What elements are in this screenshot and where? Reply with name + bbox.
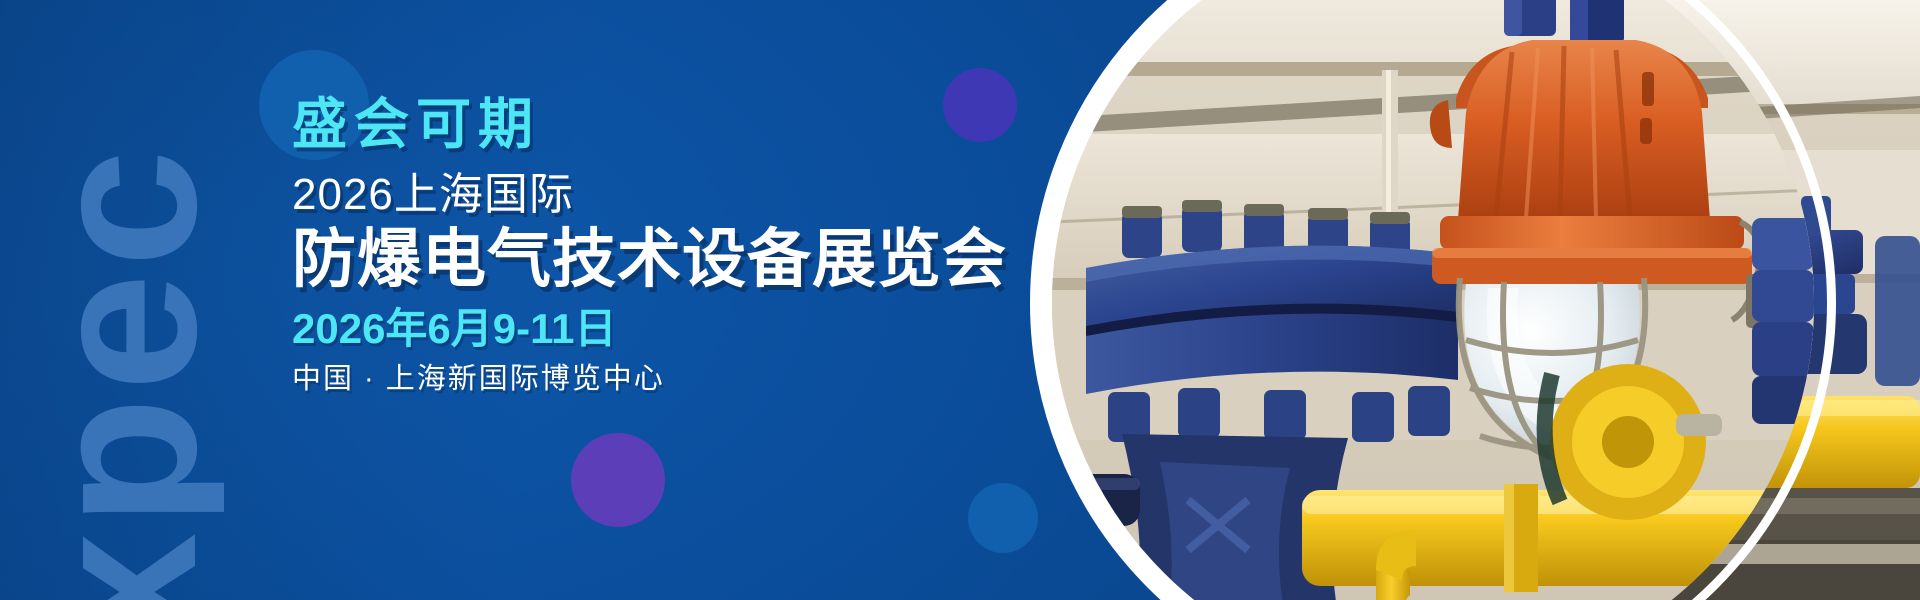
event-venue: 中国 · 上海新国际博览中心 [292, 362, 972, 397]
photo-image [1052, 0, 1814, 600]
decorative-circle-purple-bottom [571, 433, 665, 527]
page-title: 防爆电气技术设备展览会 [292, 224, 972, 296]
event-date: 2026年6月9-11日 [292, 305, 972, 352]
title-subline: 2026上海国际 [292, 171, 972, 219]
tagline: 盛会可期 [292, 96, 972, 153]
headline-copy: 盛会可期 2026上海国际 防爆电气技术设备展览会 2026年6月9-11日 中… [292, 96, 972, 397]
exhibition-banner: Expec [0, 0, 1920, 600]
photo-panel [990, 0, 1920, 600]
